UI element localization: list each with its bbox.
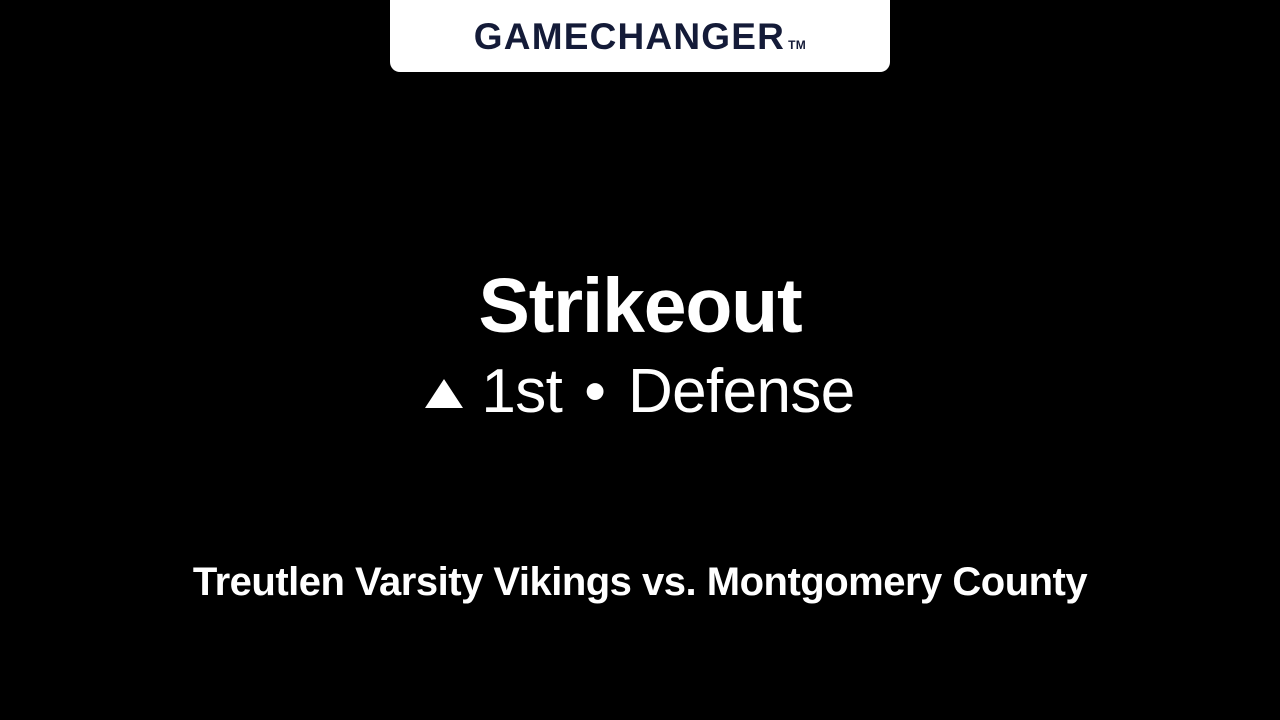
play-context-row: 1st • Defense — [0, 359, 1280, 424]
gamechanger-wordmark: GAMECHANGER — [474, 18, 785, 55]
side-label: Defense — [628, 359, 855, 424]
gamechanger-brand-card: GAMECHANGER TM — [390, 0, 890, 72]
trademark-symbol: TM — [788, 39, 806, 51]
triangle-up-icon — [425, 379, 463, 408]
video-overlay-screen: GAMECHANGER TM Strikeout 1st • Defense T… — [0, 0, 1280, 720]
play-result-title: Strikeout — [0, 268, 1280, 345]
matchup-label: Treutlen Varsity Vikings vs. Montgomery … — [0, 560, 1280, 604]
context-separator: • — [580, 359, 610, 424]
inning-label: 1st — [481, 359, 562, 424]
brand-lockup: GAMECHANGER TM — [474, 18, 806, 55]
play-result-block: Strikeout 1st • Defense — [0, 268, 1280, 424]
